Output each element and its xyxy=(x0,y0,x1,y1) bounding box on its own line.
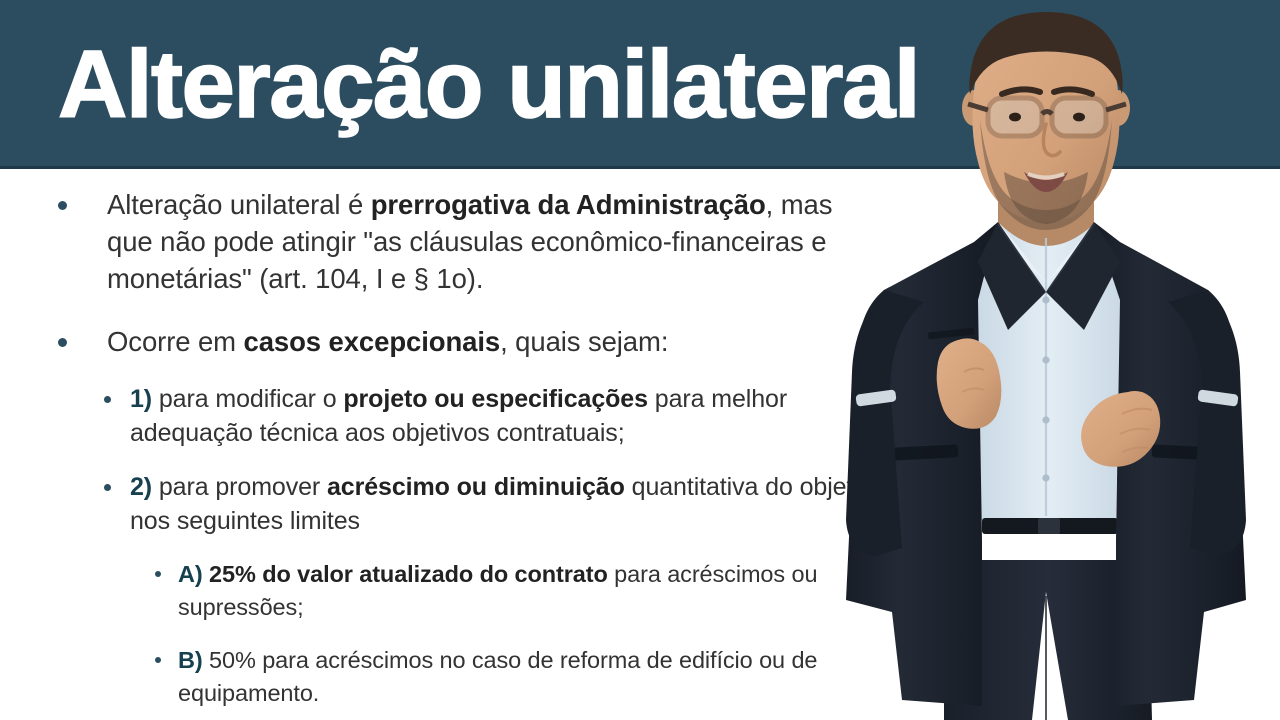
bullet-dot-icon xyxy=(104,396,111,403)
header-underline xyxy=(0,166,1280,169)
presenter-arms xyxy=(846,290,1246,556)
bullet-dot-icon xyxy=(155,657,161,663)
bullet1-bold-phrase: prerrogativa da Administração xyxy=(371,189,766,220)
presenter-shirt xyxy=(974,224,1122,520)
subsubB-marker: B) xyxy=(178,647,203,673)
bullet-dot-icon xyxy=(58,338,67,347)
page-title: Alteração unilateral xyxy=(58,30,919,140)
bullet2-bold-phrase: casos excepcionais xyxy=(244,326,501,357)
presenter-jacket xyxy=(846,222,1246,706)
bullet-dot-icon xyxy=(155,571,161,577)
bullet2-text-part2: , quais sejam: xyxy=(500,326,668,357)
bullet-dot-icon xyxy=(58,201,67,210)
sub1-marker: 1) xyxy=(130,385,152,413)
sub2-bold-phrase: acréscimo ou diminuição xyxy=(327,473,625,501)
bullet2-text-part1: Ocorre em xyxy=(107,326,244,357)
slide-canvas: Alteração unilateral Alteração unilatera… xyxy=(0,0,1280,720)
list-item: Alteração unilateral é prerrogativa da A… xyxy=(0,186,880,297)
presenter-hands xyxy=(937,338,1161,466)
list-item: A) 25% do valor atualizado do contrato p… xyxy=(0,558,880,624)
presenter-belt xyxy=(982,518,1118,534)
sub1-bold-phrase: projeto ou especificações xyxy=(343,385,648,413)
bullet-dot-icon xyxy=(104,484,111,491)
sub1-text-part1: para modificar o xyxy=(152,385,343,413)
sub2-text-part1: para promover xyxy=(152,473,327,501)
subsubA-bold-phrase: 25% do valor atualizado do contrato xyxy=(203,561,608,587)
presenter-neck xyxy=(998,178,1094,247)
bullet1-text-part1: Alteração unilateral é xyxy=(107,189,371,220)
presenter-trousers xyxy=(944,560,1152,720)
list-item: Ocorre em casos excepcionais, quais seja… xyxy=(0,323,880,360)
sub2-marker: 2) xyxy=(130,473,152,501)
list-item: 1) para modificar o projeto ou especific… xyxy=(0,382,880,450)
subsubA-marker: A) xyxy=(178,561,203,587)
list-item: 2) para promover acréscimo ou diminuição… xyxy=(0,470,880,538)
subsubB-text-part1: 50% para acréscimos no caso de reforma d… xyxy=(178,647,817,706)
slide-body: Alteração unilateral é prerrogativa da A… xyxy=(0,172,880,720)
list-item: B) 50% para acréscimos no caso de reform… xyxy=(0,644,880,710)
